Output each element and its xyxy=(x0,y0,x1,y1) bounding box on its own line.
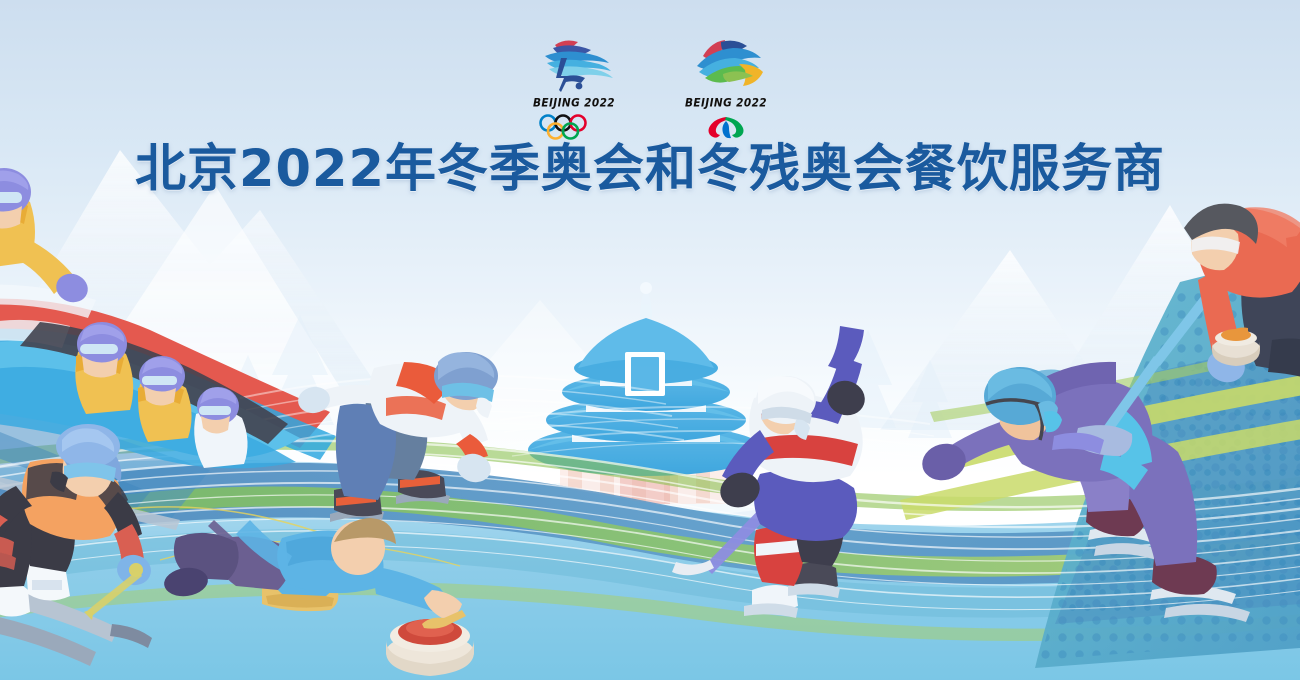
paralympic-wordmark: BEIJING 2022 xyxy=(685,96,767,109)
athlete-short-track-speed-skater xyxy=(296,352,498,522)
agitos-icon xyxy=(699,112,753,142)
olympic-winter-games-emblem-icon xyxy=(531,32,617,94)
athlete-speed-skater xyxy=(918,362,1250,622)
athlete-alpine-skier xyxy=(0,424,154,666)
logo-row: BEIJING 2022 xyxy=(0,32,1300,142)
curling-stone xyxy=(386,610,474,676)
page-title: 北京2022年冬季奥会和冬残奥会餐饮服务商 xyxy=(0,142,1300,198)
athlete-ice-hockey-player xyxy=(672,326,870,618)
paralympic-emblem-block: BEIJING 2022 xyxy=(671,32,781,142)
olympic-banner: BEIJING 2022 xyxy=(0,0,1300,680)
olympic-rings-icon xyxy=(536,112,612,142)
olympic-wordmark: BEIJING 2022 xyxy=(533,96,615,109)
olympic-emblem-block: BEIJING 2022 xyxy=(519,32,629,142)
paralympic-winter-games-emblem-icon xyxy=(683,32,769,94)
athlete-curler-deliver xyxy=(162,518,474,676)
